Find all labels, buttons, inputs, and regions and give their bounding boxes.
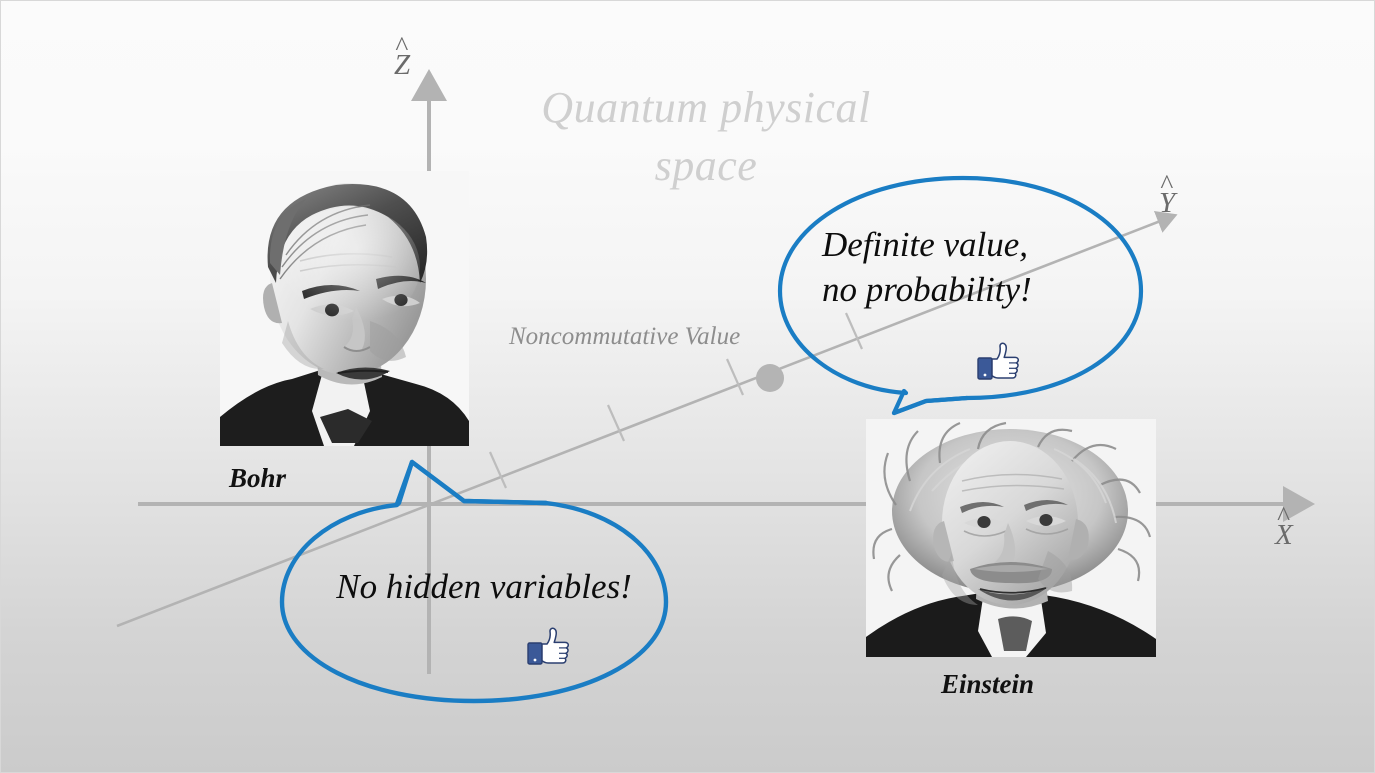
bohr-name-label: Bohr — [229, 463, 286, 494]
x-axis-label: X — [1275, 519, 1293, 552]
bohr-portrait-photo — [220, 171, 469, 446]
noncommutative-value-marker — [756, 364, 784, 392]
bohr-quote-text: No hidden variables! — [304, 565, 664, 610]
slide-canvas: Quantum physical space Z Y X Noncommutat… — [0, 0, 1375, 773]
einstein-name-label: Einstein — [941, 669, 1034, 700]
z-axis-label: Z — [394, 49, 410, 82]
thumbs-up-icon — [526, 626, 572, 668]
thumbs-up-icon — [976, 341, 1022, 383]
einstein-portrait-photo — [866, 419, 1156, 657]
page-title: Quantum physical space — [496, 79, 916, 195]
einstein-quote-text: Definite value, no probability! — [822, 223, 1112, 313]
y-axis-label: Y — [1159, 187, 1175, 220]
noncommutative-value-label: Noncommutative Value — [509, 323, 740, 351]
